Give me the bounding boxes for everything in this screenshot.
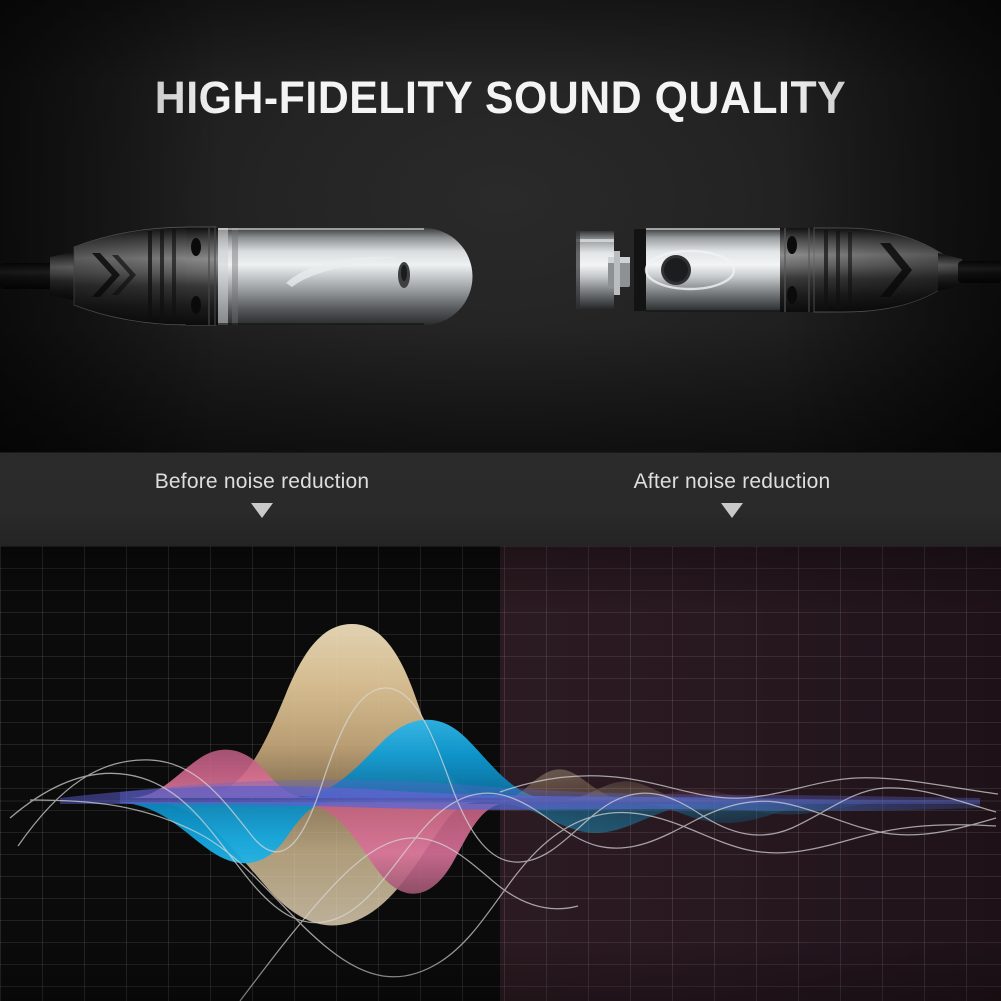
before-column: Before noise reduction	[112, 453, 412, 518]
page-title: HIGH-FIDELITY SOUND QUALITY	[25, 72, 976, 124]
hero-section: HIGH-FIDELITY SOUND QUALITY	[0, 0, 1001, 452]
before-label: Before noise reduction	[112, 470, 412, 494]
xlr-connector-pair-illustration	[0, 195, 1001, 385]
xlr-male-connector	[0, 227, 472, 325]
product-marketing-image: HIGH-FIDELITY SOUND QUALITY	[0, 0, 1001, 1001]
xlr-female-connector	[576, 228, 1001, 312]
waveform-curves	[0, 546, 1001, 1001]
product-photo	[0, 195, 1001, 385]
waveform-comparison-chart	[0, 546, 1001, 1001]
triangle-down-icon	[251, 503, 273, 518]
after-label: After noise reduction	[582, 470, 882, 494]
after-column: After noise reduction	[582, 453, 882, 518]
triangle-down-icon	[721, 503, 743, 518]
comparison-label-band: Before noise reduction After noise reduc…	[0, 452, 1001, 547]
